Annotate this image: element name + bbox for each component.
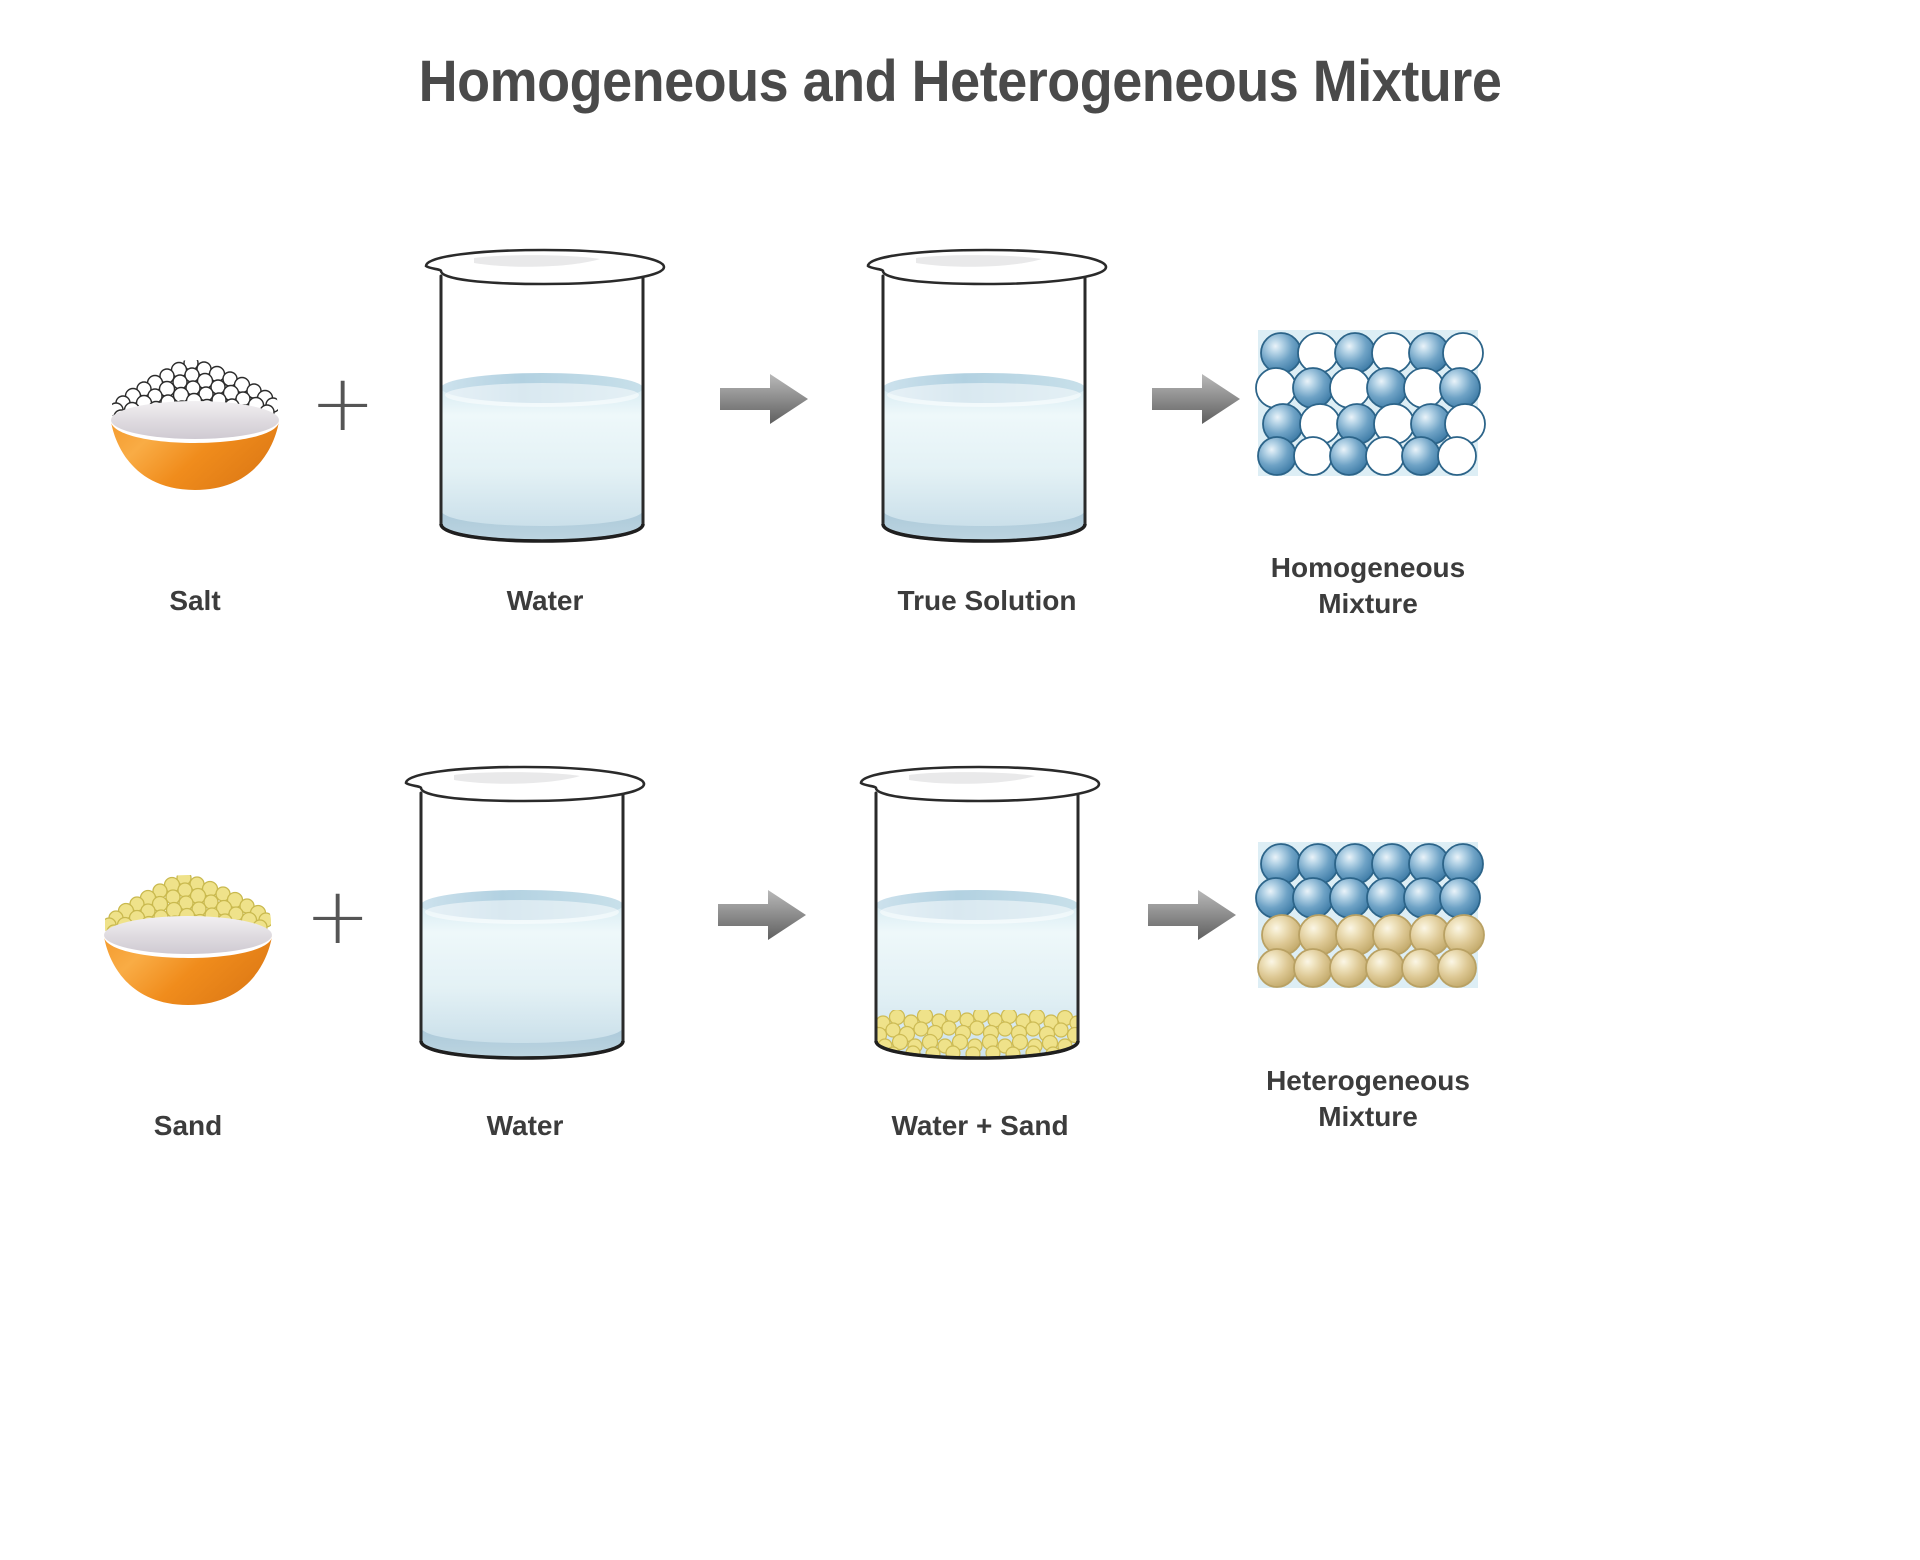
- right-arrow-icon: [1148, 890, 1236, 940]
- true-solution-label: True Solution: [847, 583, 1127, 619]
- water-label-1: Water: [405, 583, 685, 619]
- beaker-rim: [861, 767, 1099, 801]
- water-label-2: Water: [385, 1108, 665, 1144]
- water-beaker-2: [400, 765, 650, 1065]
- water-sand-beaker: [855, 765, 1105, 1065]
- right-arrow-icon: [718, 890, 806, 940]
- water-beaker-1: [420, 248, 670, 548]
- right-arrow-icon: [720, 374, 808, 424]
- arrow-2-row-1: [1152, 372, 1242, 428]
- salt-bowl: [95, 330, 295, 520]
- bowl-rim: [104, 916, 272, 954]
- plus-operator-2: +: [305, 878, 370, 956]
- water-sand-label: Water + Sand: [840, 1108, 1120, 1144]
- salt-label: Salt: [55, 583, 335, 619]
- water-body: [421, 905, 623, 1057]
- sand-bowl: [88, 845, 288, 1035]
- true-solution-beaker: [862, 248, 1112, 548]
- sand-label: Sand: [48, 1108, 328, 1144]
- diagram-canvas: Homogeneous and Heterogeneous Mixture: [0, 0, 1920, 1560]
- water-surface-highlight: [445, 383, 639, 407]
- page-title: Homogeneous and Heterogeneous Mixture: [67, 48, 1853, 115]
- water-surface-highlight: [425, 900, 619, 924]
- arrow-1-row-2: [718, 888, 808, 944]
- beaker-rim: [406, 767, 644, 801]
- water-surface-highlight: [880, 900, 1074, 924]
- solution-surface-highlight: [887, 383, 1081, 407]
- beaker-rim: [868, 250, 1106, 284]
- beaker-rim: [426, 250, 664, 284]
- bowl-rim: [111, 401, 279, 439]
- homogeneous-mixture-label: Homogeneous Mixture: [1228, 550, 1508, 622]
- arrow-1-row-1: [720, 372, 810, 428]
- homogeneous-mixture-grid: [1258, 330, 1478, 476]
- arrow-2-row-2: [1148, 888, 1238, 944]
- heterogeneous-mixture-grid: [1258, 842, 1478, 988]
- water-body: [441, 388, 643, 540]
- plus-operator-1: +: [310, 365, 375, 443]
- solution-body: [883, 388, 1085, 540]
- right-arrow-icon: [1152, 374, 1240, 424]
- heterogeneous-mixture-label: Heterogeneous Mixture: [1218, 1063, 1518, 1135]
